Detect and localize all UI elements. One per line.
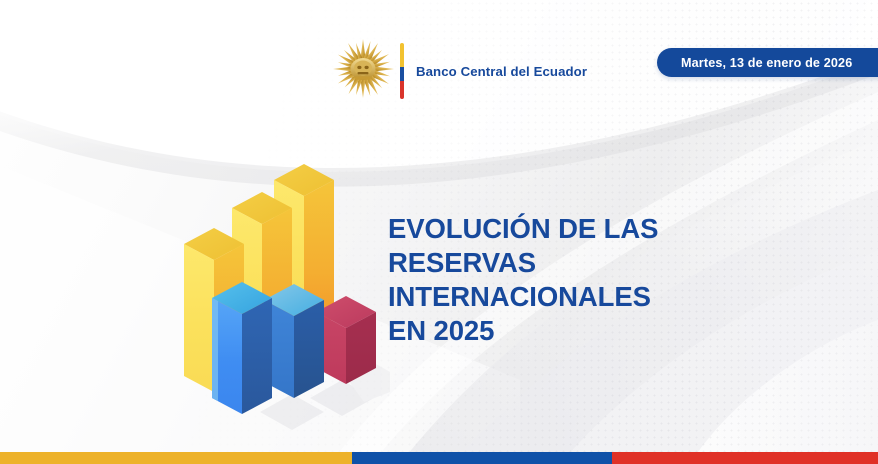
ecuador-tricolor-divider-icon — [400, 43, 404, 99]
date-badge-label: Martes, 13 de enero de 2026 — [681, 56, 852, 70]
flag-segment-yellow — [0, 452, 352, 464]
page-title-line-4: EN 2025 — [388, 314, 718, 348]
page-title: EVOLUCIÓN DE LAS RESERVAS INTERNACIONALE… — [388, 212, 718, 348]
sun-mask-icon — [332, 38, 394, 104]
flag-segment-red — [612, 452, 878, 464]
ecuador-flag-bar — [0, 452, 878, 464]
brand-name-label: Banco Central del Ecuador — [416, 64, 587, 79]
isometric-bar-chart-illustration — [160, 130, 390, 430]
page-title-line-3: INTERNACIONALES — [388, 280, 718, 314]
page-title-line-1: EVOLUCIÓN DE LAS — [388, 212, 718, 246]
brand-lockup: Banco Central del Ecuador — [332, 38, 587, 104]
poster-canvas: Banco Central del Ecuador Martes, 13 de … — [0, 0, 878, 464]
page-title-line-2: RESERVAS — [388, 246, 718, 280]
front-bar-3 — [316, 296, 376, 384]
front-bar-1 — [212, 282, 272, 414]
date-badge: Martes, 13 de enero de 2026 — [657, 48, 878, 77]
flag-segment-blue — [352, 452, 612, 464]
front-bar-2 — [264, 284, 324, 398]
